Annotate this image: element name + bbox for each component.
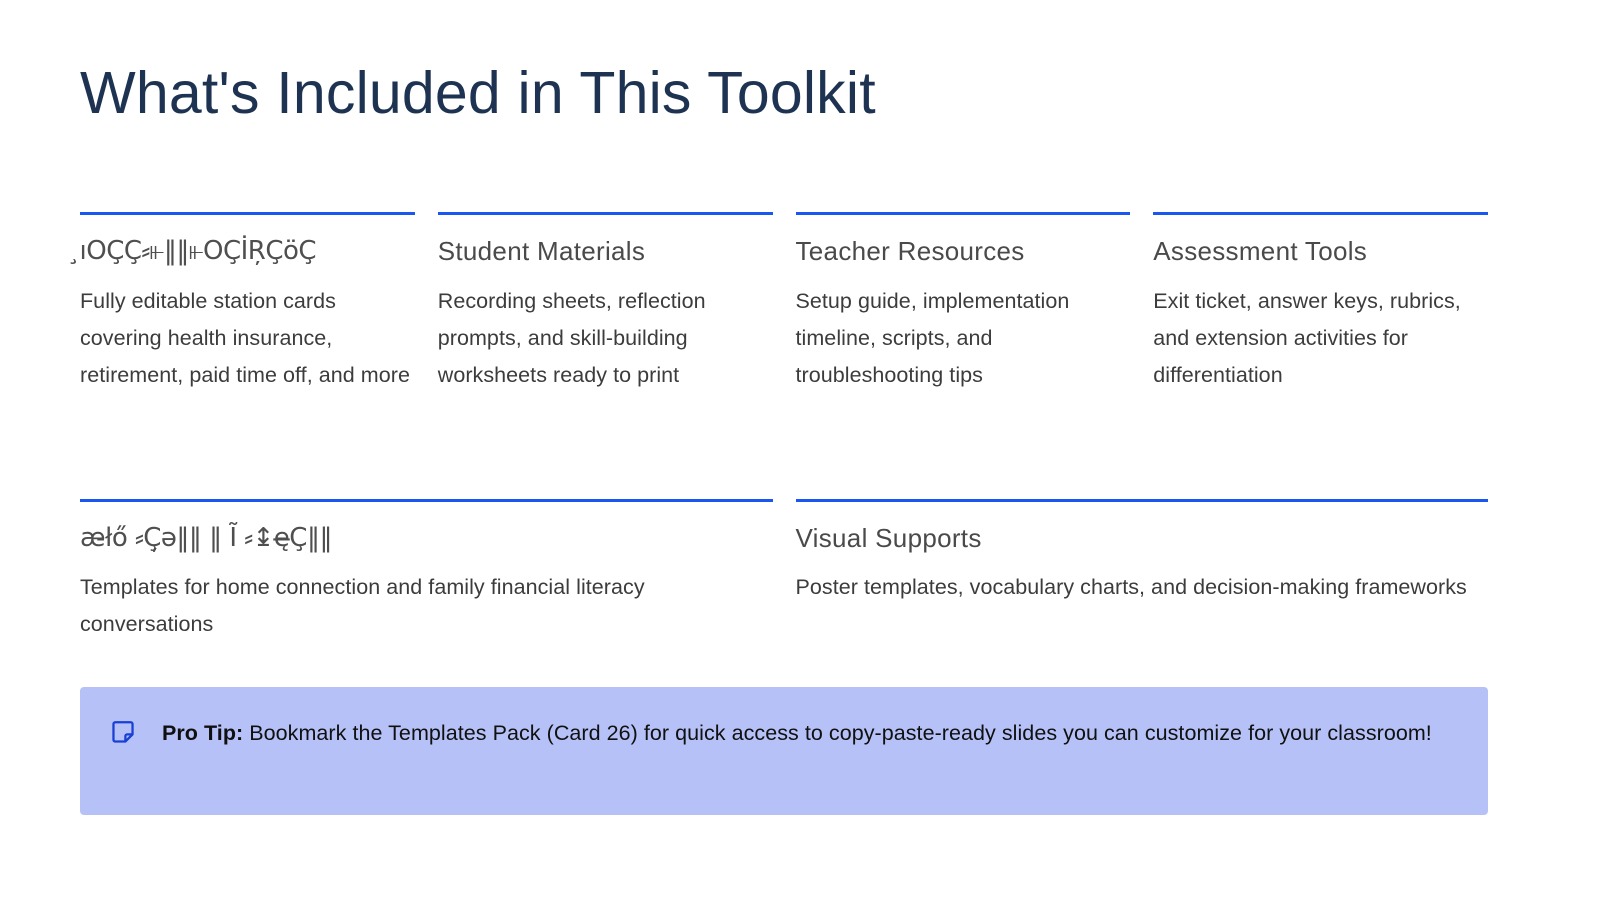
feature-card: Student Materials Recording sheets, refl… <box>438 212 773 394</box>
card-accent-bar <box>80 499 773 502</box>
card-body-text: Templates for home connection and family… <box>80 569 773 643</box>
sticky-note-icon <box>110 719 136 745</box>
feature-card-row-one: ̧ıOÇÇ⸗⫦‖‖⫦OÇİŖÇöÇ Fully editable statio… <box>80 212 1488 394</box>
card-heading: Visual Supports <box>796 523 1489 554</box>
card-body-text: Exit ticket, answer keys, rubrics, and e… <box>1153 283 1488 394</box>
feature-card: æ̵łő ⸗Ç̦ə‖‖ ‖ Ĩ ⸗↨ę̶Ç‖‖ Templates for ho… <box>80 499 773 643</box>
card-body-text: Poster templates, vocabulary charts, and… <box>796 569 1489 606</box>
pro-tip-label: Pro Tip: <box>162 721 243 745</box>
card-heading: Student Materials <box>438 236 773 267</box>
card-body-text: Setup guide, implementation timeline, sc… <box>796 283 1131 394</box>
card-heading: æ̵łő ⸗Ç̦ə‖‖ ‖ Ĩ ⸗↨ę̶Ç‖‖ <box>80 523 773 554</box>
card-accent-bar <box>796 212 1131 215</box>
card-heading: Teacher Resources <box>796 236 1131 267</box>
card-accent-bar <box>796 499 1489 502</box>
card-heading: Assessment Tools <box>1153 236 1488 267</box>
page-title: What's Included in This Toolkit <box>80 60 876 126</box>
feature-card: ̧ıOÇÇ⸗⫦‖‖⫦OÇİŖÇöÇ Fully editable statio… <box>80 212 415 394</box>
feature-card-row-two: æ̵łő ⸗Ç̦ə‖‖ ‖ Ĩ ⸗↨ę̶Ç‖‖ Templates for ho… <box>80 499 1488 643</box>
card-heading: ̧ıOÇÇ⸗⫦‖‖⫦OÇİŖÇöÇ <box>80 236 415 267</box>
feature-card: Visual Supports Poster templates, vocabu… <box>796 499 1489 643</box>
pro-tip-body: Bookmark the Templates Pack (Card 26) fo… <box>243 721 1432 745</box>
card-accent-bar <box>438 212 773 215</box>
feature-card: Teacher Resources Setup guide, implement… <box>796 212 1131 394</box>
slide-canvas: What's Included in This Toolkit ̧ıOÇÇ⸗⫦‖… <box>0 0 1600 900</box>
card-accent-bar <box>1153 212 1488 215</box>
pro-tip-banner: Pro Tip: Bookmark the Templates Pack (Ca… <box>80 687 1488 815</box>
card-accent-bar <box>80 212 415 215</box>
pro-tip-text: Pro Tip: Bookmark the Templates Pack (Ca… <box>162 715 1432 752</box>
feature-card: Assessment Tools Exit ticket, answer key… <box>1153 212 1488 394</box>
card-body-text: Recording sheets, reflection prompts, an… <box>438 283 773 394</box>
card-body-text: Fully editable station cards covering he… <box>80 283 415 394</box>
